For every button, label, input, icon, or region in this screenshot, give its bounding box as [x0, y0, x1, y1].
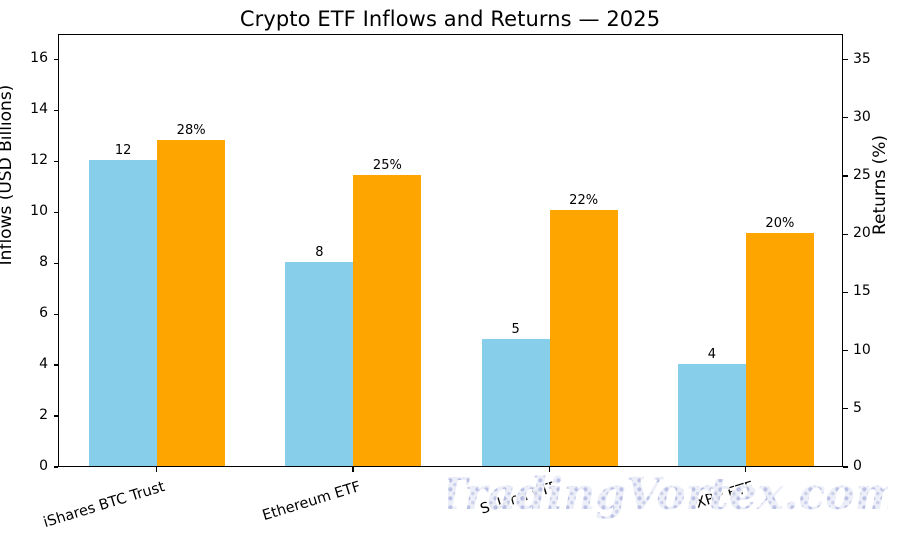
y-tick-mark-right [843, 292, 848, 293]
y-tick-label-left: 14 [8, 101, 48, 117]
y-tick-label-left: 6 [8, 305, 48, 321]
y-tick-mark-right [843, 466, 848, 467]
x-tick-mark [549, 467, 550, 472]
bar-value-label-returns: 28% [157, 123, 225, 138]
y-tick-label-right: 35 [853, 51, 897, 67]
x-category-label: Solana ETF [421, 479, 560, 535]
bar-returns [550, 210, 618, 466]
x-category-label: iShares BTC Trust [28, 479, 167, 535]
y-tick-mark-right [843, 350, 848, 351]
bar-value-label-inflows: 8 [285, 245, 353, 260]
bar-returns [157, 140, 225, 466]
y-tick-label-left: 4 [8, 356, 48, 372]
plot-area: 1228%825%522%420% [58, 34, 843, 467]
y-axis-label-right: Returns (%) [870, 65, 890, 305]
bar-inflows [482, 339, 550, 466]
y-tick-mark-right [843, 175, 848, 176]
page-title: Crypto ETF Inflows and Returns — 2025 [0, 7, 900, 31]
y-tick-label-left: 8 [8, 254, 48, 270]
bar-inflows [89, 160, 157, 466]
bar-inflows [285, 262, 353, 466]
bar-value-label-returns: 25% [353, 158, 421, 173]
y-tick-label-right: 20 [853, 225, 897, 241]
y-tick-label-left: 12 [8, 152, 48, 168]
bar-value-label-inflows: 12 [89, 143, 157, 158]
x-tick-mark [156, 467, 157, 472]
bar-value-label-inflows: 4 [678, 347, 746, 362]
x-category-label: XRP ETF [617, 479, 756, 535]
y-tick-mark-right [843, 408, 848, 409]
y-tick-label-right: 0 [853, 458, 897, 474]
y-tick-label-left: 10 [8, 203, 48, 219]
y-tick-label-left: 0 [8, 458, 48, 474]
y-tick-mark-right [843, 234, 848, 235]
x-tick-mark [745, 467, 746, 472]
bar-value-label-returns: 22% [550, 193, 618, 208]
y-tick-mark-right [843, 59, 848, 60]
bar-inflows [678, 364, 746, 466]
y-tick-label-left: 2 [8, 407, 48, 423]
y-tick-mark-right [843, 117, 848, 118]
x-tick-mark [352, 467, 353, 472]
y-tick-label-right: 25 [853, 167, 897, 183]
bar-value-label-inflows: 5 [482, 322, 550, 337]
y-tick-label-left: 16 [8, 50, 48, 66]
chart-canvas: Crypto ETF Inflows and Returns — 2025 In… [0, 0, 900, 540]
bar-returns [353, 175, 421, 466]
y-tick-label-right: 15 [853, 283, 897, 299]
bar-returns [746, 233, 814, 466]
x-category-label: Ethereum ETF [224, 479, 363, 535]
y-tick-label-right: 5 [853, 400, 897, 416]
y-tick-label-right: 10 [853, 342, 897, 358]
y-tick-label-right: 30 [853, 109, 897, 125]
bar-value-label-returns: 20% [746, 216, 814, 231]
